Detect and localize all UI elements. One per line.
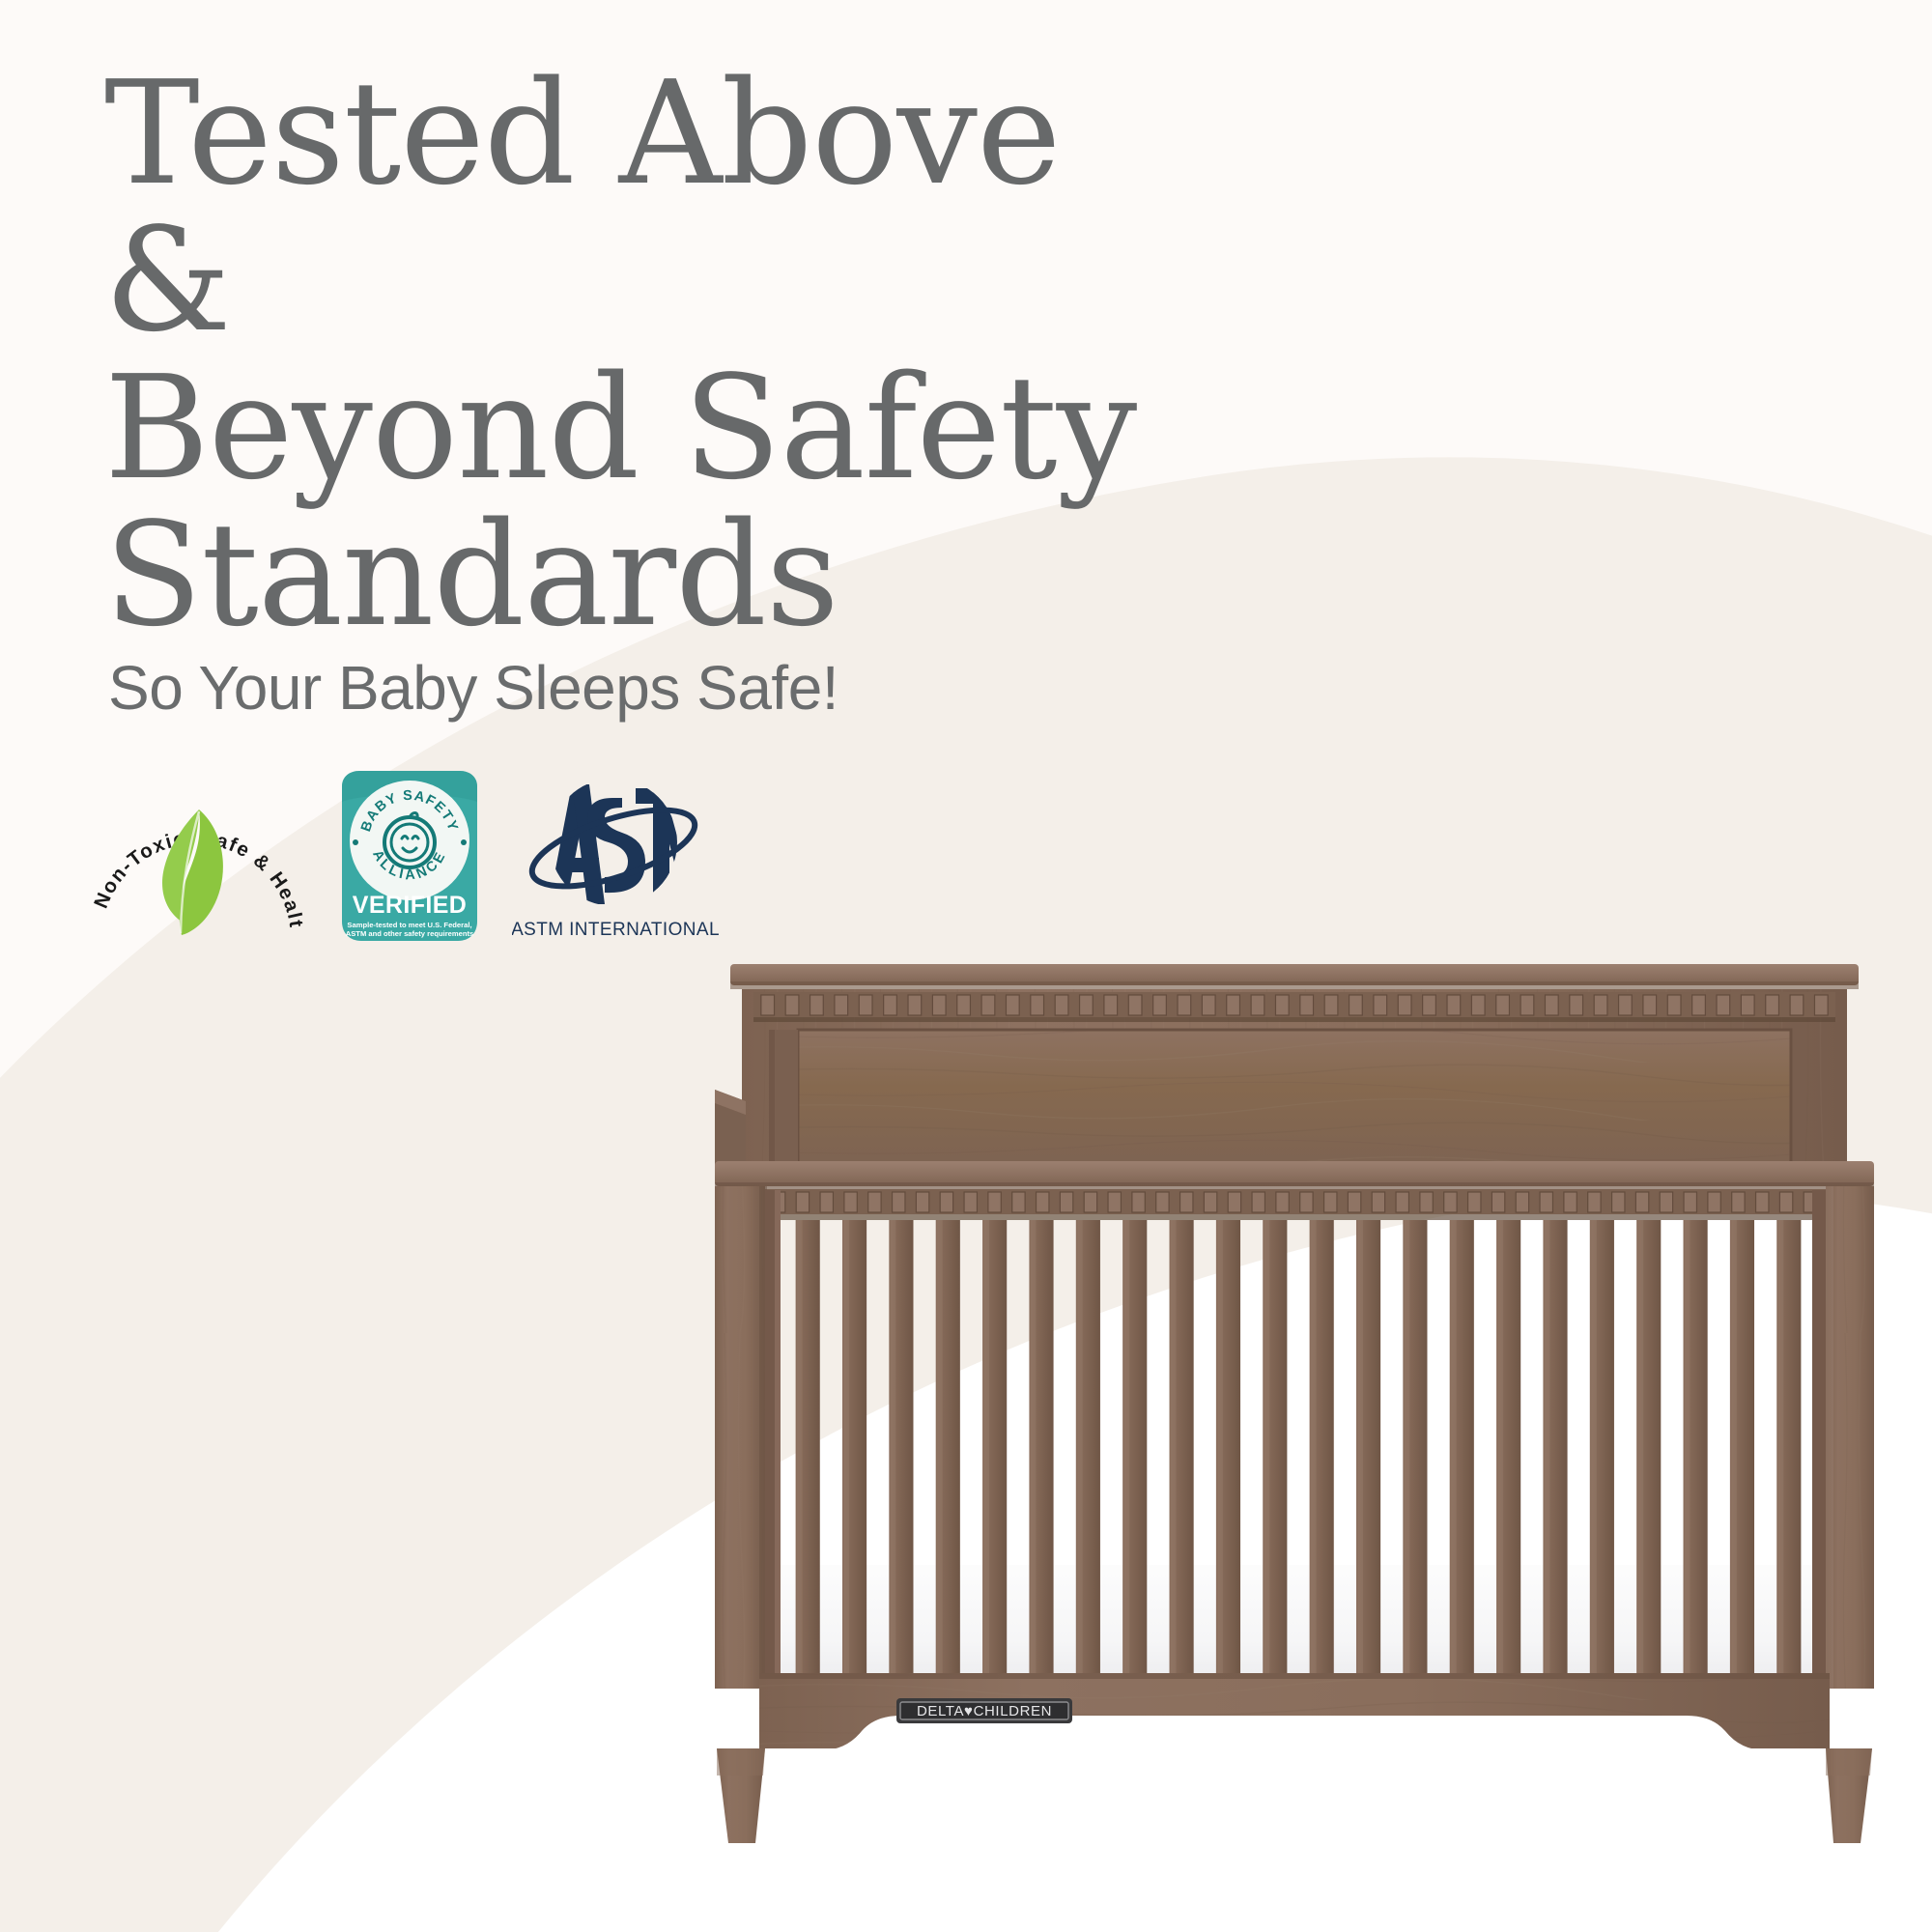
- page-subheadline: So Your Baby Sleeps Safe!: [108, 652, 838, 724]
- crib-headboard: [730, 964, 1859, 1171]
- crib-slat-highlight: [1498, 1220, 1504, 1674]
- crib-corner-post-left: [715, 1186, 781, 1689]
- crib-slat-highlight: [1451, 1220, 1457, 1674]
- crib-slat-highlight: [1405, 1220, 1410, 1674]
- astm-caption: ASTM INTERNATIONAL: [512, 920, 720, 940]
- crib-slat-highlight: [1545, 1220, 1550, 1674]
- certification-badge-row: Non-Toxic, Safe & Healthy: [85, 763, 720, 952]
- crib-front-top-rail: [715, 1161, 1874, 1220]
- crib-brand-plaque-text: DELTA♥CHILDREN: [917, 1703, 1052, 1719]
- crib-corner-post-right: [1812, 1186, 1874, 1689]
- page-headline: Tested Above & Beyond Safety Standards: [104, 60, 1148, 649]
- crib-slat-highlight: [1638, 1220, 1644, 1674]
- crib-slat-highlight: [1591, 1220, 1597, 1674]
- crib-slat-highlight: [1031, 1220, 1037, 1674]
- crib-brand-plaque: DELTA♥CHILDREN: [896, 1698, 1072, 1723]
- product-image-convertible-crib: DELTA♥CHILDREN: [715, 947, 1874, 1845]
- badge-baby-safety-alliance: BABY SAFETY ALLIANCE VERIF: [336, 763, 483, 947]
- crib-slat-highlight: [1357, 1220, 1363, 1674]
- astm-globe-icon: [524, 784, 707, 904]
- leaf-icon: [162, 810, 223, 935]
- promo-graphic-canvas: Tested Above & Beyond Safety Standards S…: [0, 0, 1932, 1932]
- crib-slat-highlight: [1685, 1220, 1690, 1674]
- crib-slat-highlight: [1778, 1220, 1784, 1674]
- crib-slat-highlight: [1077, 1220, 1083, 1674]
- crib-slat-highlight: [891, 1220, 896, 1674]
- crib-slat-highlight: [1171, 1220, 1177, 1674]
- bsa-fine-print-line-2: ASTM and other safety requirements: [346, 929, 474, 938]
- crib-leg-left: [717, 1748, 765, 1843]
- bsa-verified-label: VERIFIED: [353, 892, 468, 919]
- crib-slat-highlight: [843, 1220, 849, 1674]
- crib-slat-highlight: [1731, 1220, 1737, 1674]
- badge-non-toxic-leaf: Non-Toxic, Safe & Healthy: [85, 763, 307, 952]
- bsa-fine-print-line-1: Sample-tested to meet U.S. Federal,: [347, 921, 471, 929]
- crib-slat-highlight: [797, 1220, 803, 1674]
- crib-slat-highlight: [984, 1220, 990, 1674]
- crib-slat-highlight: [1217, 1220, 1223, 1674]
- badge-astm-international: ASTM INTERNATIONAL: [512, 763, 720, 947]
- crib-slat-highlight: [1264, 1220, 1270, 1674]
- crib-mattress: [765, 1533, 1824, 1681]
- crib-slat-highlight: [1124, 1220, 1130, 1674]
- crib-leg-right: [1826, 1748, 1872, 1843]
- crib-slat-highlight: [937, 1220, 943, 1674]
- crib-slat-highlight: [1311, 1220, 1317, 1674]
